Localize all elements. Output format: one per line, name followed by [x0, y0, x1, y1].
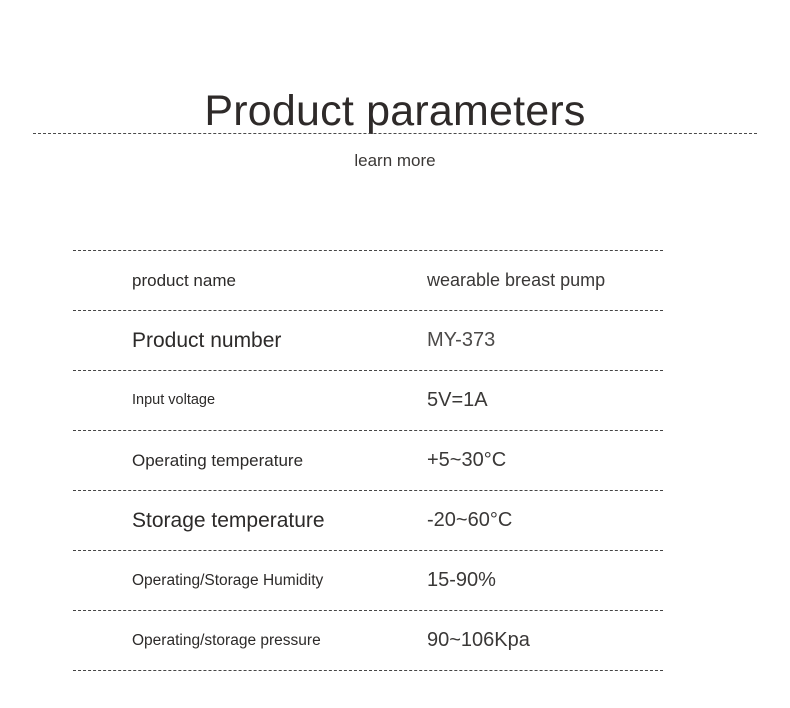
spec-value-operating-temperature: +5~30°C: [420, 449, 663, 472]
spec-label-operating-storage-pressure: Operating/storage pressure: [73, 631, 420, 651]
product-parameters-page: Product parameters learn more product na…: [0, 0, 790, 708]
spec-label-product-number: Product number: [73, 327, 420, 354]
header-divider: [33, 133, 757, 134]
spec-label-storage-temperature: Storage temperature: [73, 507, 420, 534]
spec-value-operating-storage-humidity: 15-90%: [420, 569, 663, 592]
spec-value-product-number: MY-373: [420, 329, 663, 352]
table-row: Storage temperature -20~60°C: [73, 490, 663, 550]
spec-label-product-name: product name: [73, 270, 420, 292]
spec-label-operating-temperature: Operating temperature: [73, 450, 420, 472]
table-row: Operating temperature +5~30°C: [73, 430, 663, 490]
table-row: Input voltage 5V=1A: [73, 370, 663, 430]
spec-label-operating-storage-humidity: Operating/Storage Humidity: [73, 571, 420, 591]
spec-label-input-voltage: Input voltage: [73, 391, 420, 410]
table-row: Operating/storage pressure 90~106Kpa: [73, 610, 663, 671]
learn-more-label: learn more: [0, 149, 790, 173]
spec-value-product-name: wearable breast pump: [420, 270, 663, 291]
spec-value-operating-storage-pressure: 90~106Kpa: [420, 629, 663, 652]
table-row: product name wearable breast pump: [73, 250, 663, 310]
spec-value-input-voltage: 5V=1A: [420, 389, 663, 412]
spec-value-storage-temperature: -20~60°C: [420, 509, 663, 532]
table-row: Product number MY-373: [73, 310, 663, 370]
table-row: Operating/Storage Humidity 15-90%: [73, 550, 663, 610]
page-title: Product parameters: [0, 81, 790, 141]
spec-table: product name wearable breast pump Produc…: [73, 250, 663, 671]
